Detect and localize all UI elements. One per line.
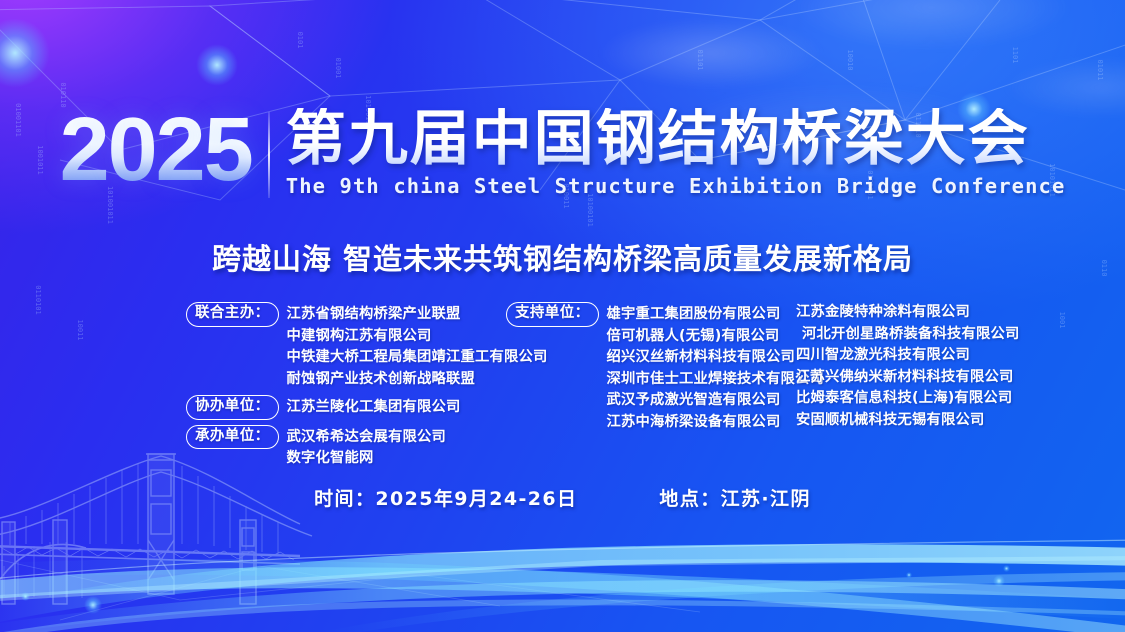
- organizer-group: 承办单位：武汉希希达会展有限公司数字化智能网: [186, 425, 506, 470]
- organizer-name: 四川智龙激光科技有限公司: [796, 345, 1019, 367]
- organizer-name: 绍兴汉丝新材料科技有限公司: [607, 347, 824, 369]
- conference-banner: 01001101 1001011 010110 101001011 011010…: [0, 0, 1125, 632]
- organizer-name: 数字化智能网: [287, 448, 446, 470]
- organizer-name: 武汉希希达会展有限公司: [287, 427, 446, 449]
- organizer-name: 河北开创星路桥装备科技有限公司: [796, 324, 1019, 346]
- organizer-role-label: 支持单位：: [506, 302, 599, 327]
- organizer-list: 武汉希希达会展有限公司数字化智能网: [287, 425, 446, 470]
- organizer-name: 江苏金陵特种涂料有限公司: [796, 302, 1019, 324]
- headline-block: 2025 第九届中国钢结构桥梁大会 The 9th china Steel St…: [0, 108, 1125, 198]
- organizer-name: 比姆泰客信息科技(上海)有限公司: [796, 388, 1019, 410]
- organizer-name: 安固顺机械科技无锡有限公司: [796, 410, 1019, 432]
- organizer-name: 江苏兴佛纳米新材料科技有限公司: [796, 367, 1019, 389]
- organizer-group: 支持单位：雄宇重工集团股份有限公司倍可机器人(无锡)有限公司绍兴汉丝新材料科技有…: [506, 302, 796, 433]
- organizer-name: 雄宇重工集团股份有限公司: [607, 304, 824, 326]
- title-divider: [268, 112, 270, 198]
- organizer-role-label: 协办单位：: [186, 395, 279, 420]
- organizer-name: 倍可机器人(无锡)有限公司: [607, 326, 824, 348]
- organizer-group: 协办单位：江苏兰陵化工集团有限公司: [186, 395, 506, 420]
- organizer-group: 联合主办：江苏省钢结构桥梁产业联盟中建钢构江苏有限公司中铁建大桥工程局集团靖江重…: [186, 302, 506, 390]
- organizers-block: 联合主办：江苏省钢结构桥梁产业联盟中建钢构江苏有限公司中铁建大桥工程局集团靖江重…: [186, 302, 1046, 475]
- year-2025: 2025: [60, 108, 266, 194]
- organizer-list: 江苏金陵特种涂料有限公司河北开创星路桥装备科技有限公司四川智龙激光科技有限公司江…: [796, 302, 1019, 431]
- organizer-list: 雄宇重工集团股份有限公司倍可机器人(无锡)有限公司绍兴汉丝新材料科技有限公司深圳…: [607, 302, 824, 433]
- event-location: 地点：江苏·江阴: [659, 484, 810, 511]
- organizer-name: 武汉予成激光智造有限公司: [607, 390, 824, 412]
- organizers-column-2: 支持单位：雄宇重工集团股份有限公司倍可机器人(无锡)有限公司绍兴汉丝新材料科技有…: [506, 302, 796, 475]
- organizer-name: 江苏中海桥梁设备有限公司: [607, 412, 824, 434]
- conference-title-en: The 9th china Steel Structure Exhibition…: [286, 174, 1066, 198]
- organizer-name: 江苏兰陵化工集团有限公司: [287, 397, 461, 419]
- organizers-column-1: 联合主办：江苏省钢结构桥梁产业联盟中建钢构江苏有限公司中铁建大桥工程局集团靖江重…: [186, 302, 506, 475]
- organizers-column-3: 江苏金陵特种涂料有限公司河北开创星路桥装备科技有限公司四川智龙激光科技有限公司江…: [796, 302, 1046, 475]
- organizer-role-label: 联合主办：: [186, 302, 279, 327]
- organizer-group: 江苏金陵特种涂料有限公司河北开创星路桥装备科技有限公司四川智龙激光科技有限公司江…: [796, 302, 1046, 431]
- conference-title-cn: 第九届中国钢结构桥梁大会: [286, 108, 1066, 170]
- tagline: 跨越山海 智造未来共筑钢结构桥梁高质量发展新格局: [0, 236, 1125, 278]
- event-date: 时间：2025年9月24-26日: [314, 484, 577, 511]
- organizer-name: 深圳市佳士工业焊接技术有限公司: [607, 369, 824, 391]
- organizer-list: 江苏兰陵化工集团有限公司: [287, 395, 461, 419]
- event-meta: 时间：2025年9月24-26日 地点：江苏·江阴: [0, 484, 1125, 511]
- organizer-role-label: 承办单位：: [186, 425, 279, 450]
